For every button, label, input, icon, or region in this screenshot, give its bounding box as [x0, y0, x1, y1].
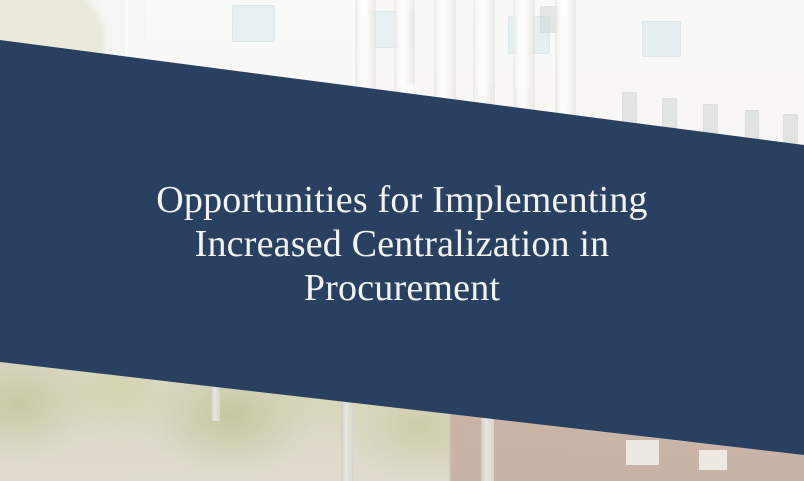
title-container: Opportunities for ImplementingIncreased …: [0, 178, 804, 310]
title-slide: Opportunities for ImplementingIncreased …: [0, 0, 804, 481]
slide-title: Opportunities for ImplementingIncreased …: [72, 178, 732, 310]
